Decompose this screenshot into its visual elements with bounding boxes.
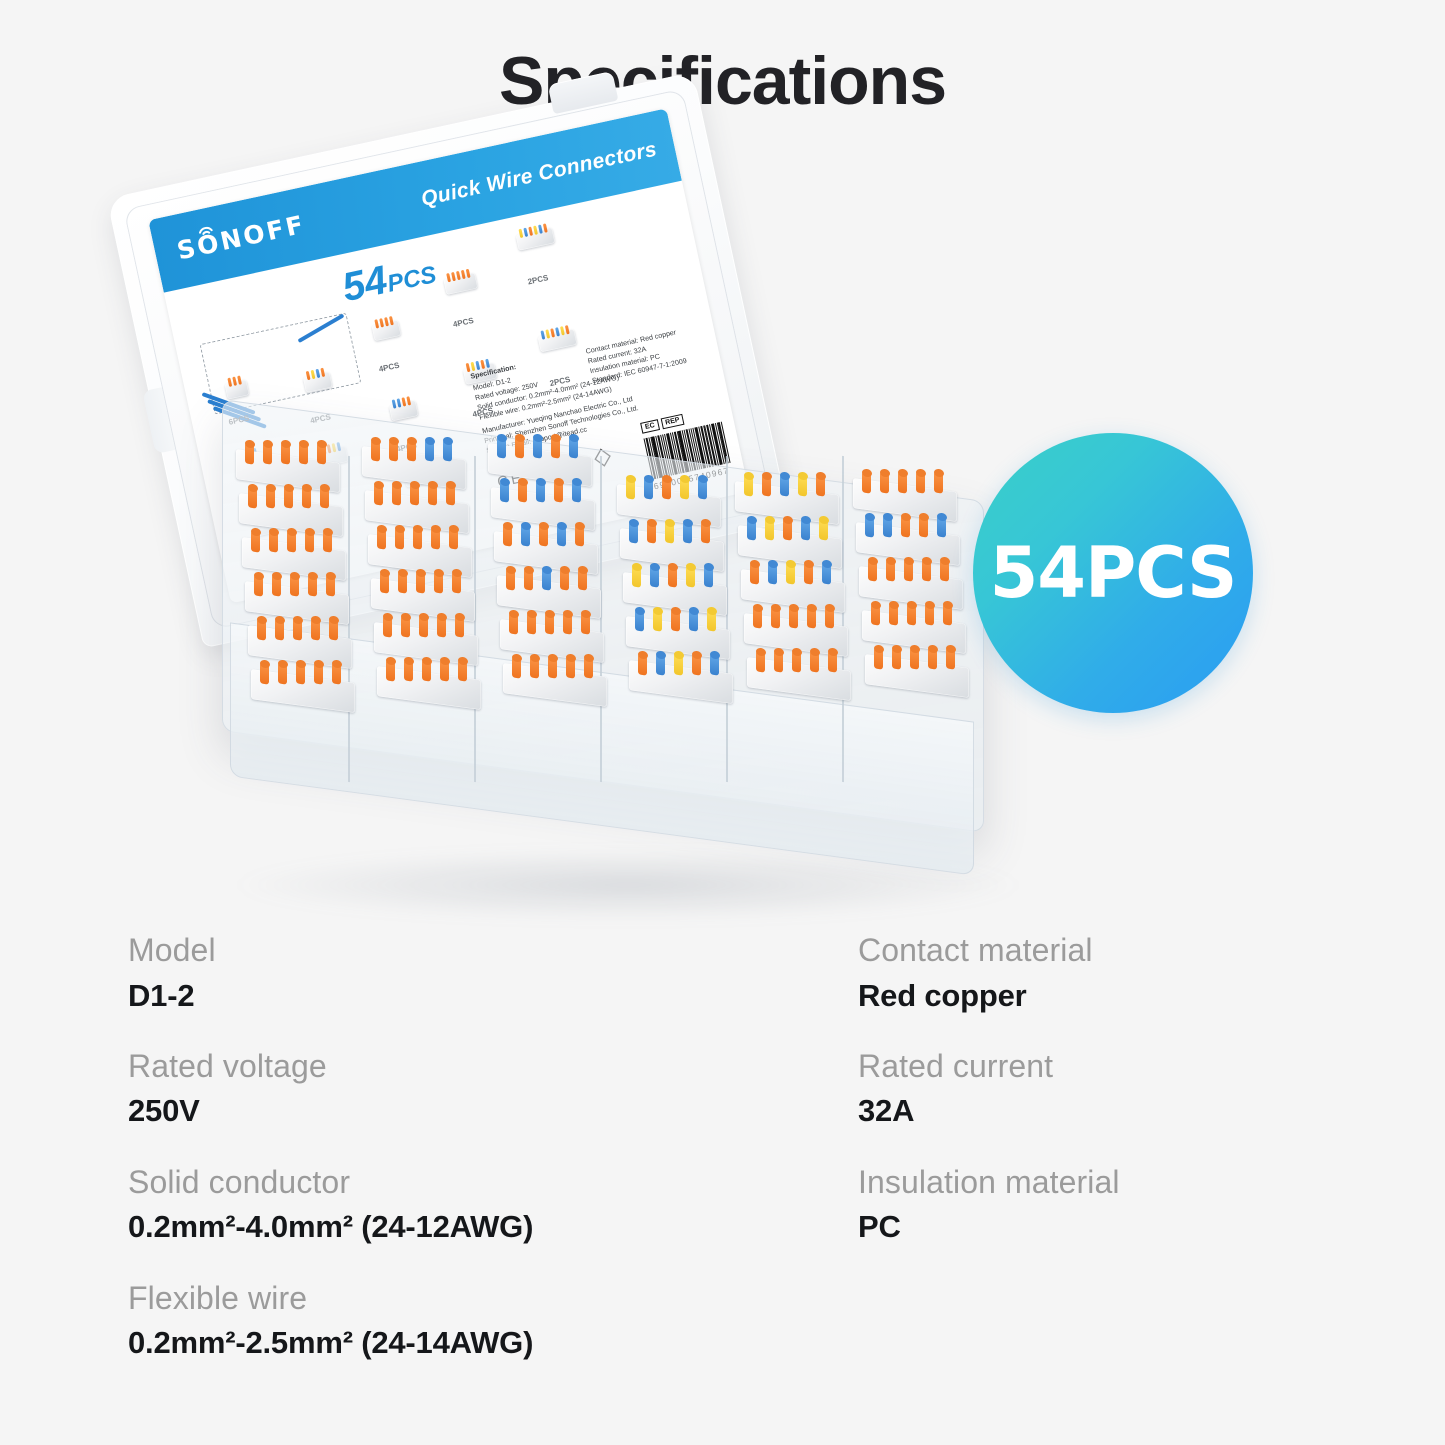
connector-lever (389, 316, 394, 325)
spec-row: Contact materialRed copper (858, 930, 1418, 1016)
connector-lever (311, 370, 316, 379)
spec-row: Rated current32A (858, 1046, 1418, 1132)
connector-lever (456, 271, 461, 280)
connector-lever (374, 319, 379, 328)
connector-lever (533, 225, 538, 234)
connector-lever (446, 273, 451, 282)
connector-lever (540, 330, 545, 339)
connector-lever (306, 371, 311, 380)
connector-lever (523, 228, 528, 237)
connector-lever (461, 270, 466, 279)
connector-lever (227, 378, 232, 387)
connector-lever (232, 376, 237, 385)
connector-lever (543, 223, 548, 232)
connector-lever (320, 368, 325, 377)
connector-lever (550, 328, 555, 337)
connector-lever (565, 325, 570, 334)
connector-lever (315, 369, 320, 378)
connector-lever (397, 398, 402, 407)
spec-label: Flexible wire (128, 1278, 768, 1320)
specifications-page: Specifications SONOFF Quick Wire Connect… (0, 0, 1445, 1445)
specifications-table: ModelD1-2Rated voltage250VSolid conducto… (0, 930, 1445, 1440)
spec-label: Solid conductor (128, 1162, 768, 1204)
connector-lever (406, 396, 411, 405)
spec-value: 32A (858, 1091, 1418, 1131)
spec-label: Contact material (858, 930, 1418, 972)
connector-lever (528, 227, 533, 236)
connector-lever (538, 224, 543, 233)
connector-lever (555, 327, 560, 336)
label-piece-tag: 4PCS (378, 361, 400, 374)
spec-row: Rated voltage250V (128, 1046, 768, 1132)
connector-lever (451, 272, 456, 281)
spec-row: Solid conductor0.2mm²-4.0mm² (24-12AWG) (128, 1162, 768, 1248)
spec-label: Rated voltage (128, 1046, 768, 1088)
connector-lever (237, 375, 242, 384)
connector-lever (545, 329, 550, 338)
piece-count-badge: 54PCS (973, 433, 1253, 713)
tray-divider (600, 456, 602, 782)
spec-row: Flexible wire0.2mm²-2.5mm² (24-14AWG) (128, 1278, 768, 1364)
page-title: Specifications (0, 42, 1445, 120)
connector-lever (518, 229, 523, 238)
connector-lever (401, 397, 406, 406)
spec-value: D1-2 (128, 976, 768, 1016)
spec-label: Insulation material (858, 1162, 1418, 1204)
box-tray (222, 450, 1012, 920)
spec-column-right: Contact materialRed copperRated current3… (858, 930, 1418, 1278)
tray-divider (842, 456, 844, 782)
connector-lever (560, 326, 565, 335)
spec-row: Insulation materialPC (858, 1162, 1418, 1248)
product-photo: SONOFF Quick Wire Connectors 54PCS 6PCS4… (0, 150, 1445, 940)
spec-value: 250V (128, 1091, 768, 1131)
connector-lever (392, 399, 397, 408)
spec-value: 0.2mm²-2.5mm² (24-14AWG) (128, 1323, 768, 1363)
spec-row: ModelD1-2 (128, 930, 768, 1016)
spec-label: Model (128, 930, 768, 972)
spec-column-left: ModelD1-2Rated voltage250VSolid conducto… (128, 930, 768, 1394)
label-piece-tag: 2PCS (527, 273, 549, 286)
spec-value: Red copper (858, 976, 1418, 1016)
connector-lever (379, 318, 384, 327)
label-piece-tag: 4PCS (452, 316, 474, 329)
spec-value: 0.2mm²-4.0mm² (24-12AWG) (128, 1207, 768, 1247)
tray-divider (726, 456, 728, 782)
spec-label: Rated current (858, 1046, 1418, 1088)
connector-lever (466, 269, 471, 278)
piece-count-badge-text: 54PCS (990, 532, 1237, 614)
connector-lever (384, 317, 389, 326)
spec-value: PC (858, 1207, 1418, 1247)
